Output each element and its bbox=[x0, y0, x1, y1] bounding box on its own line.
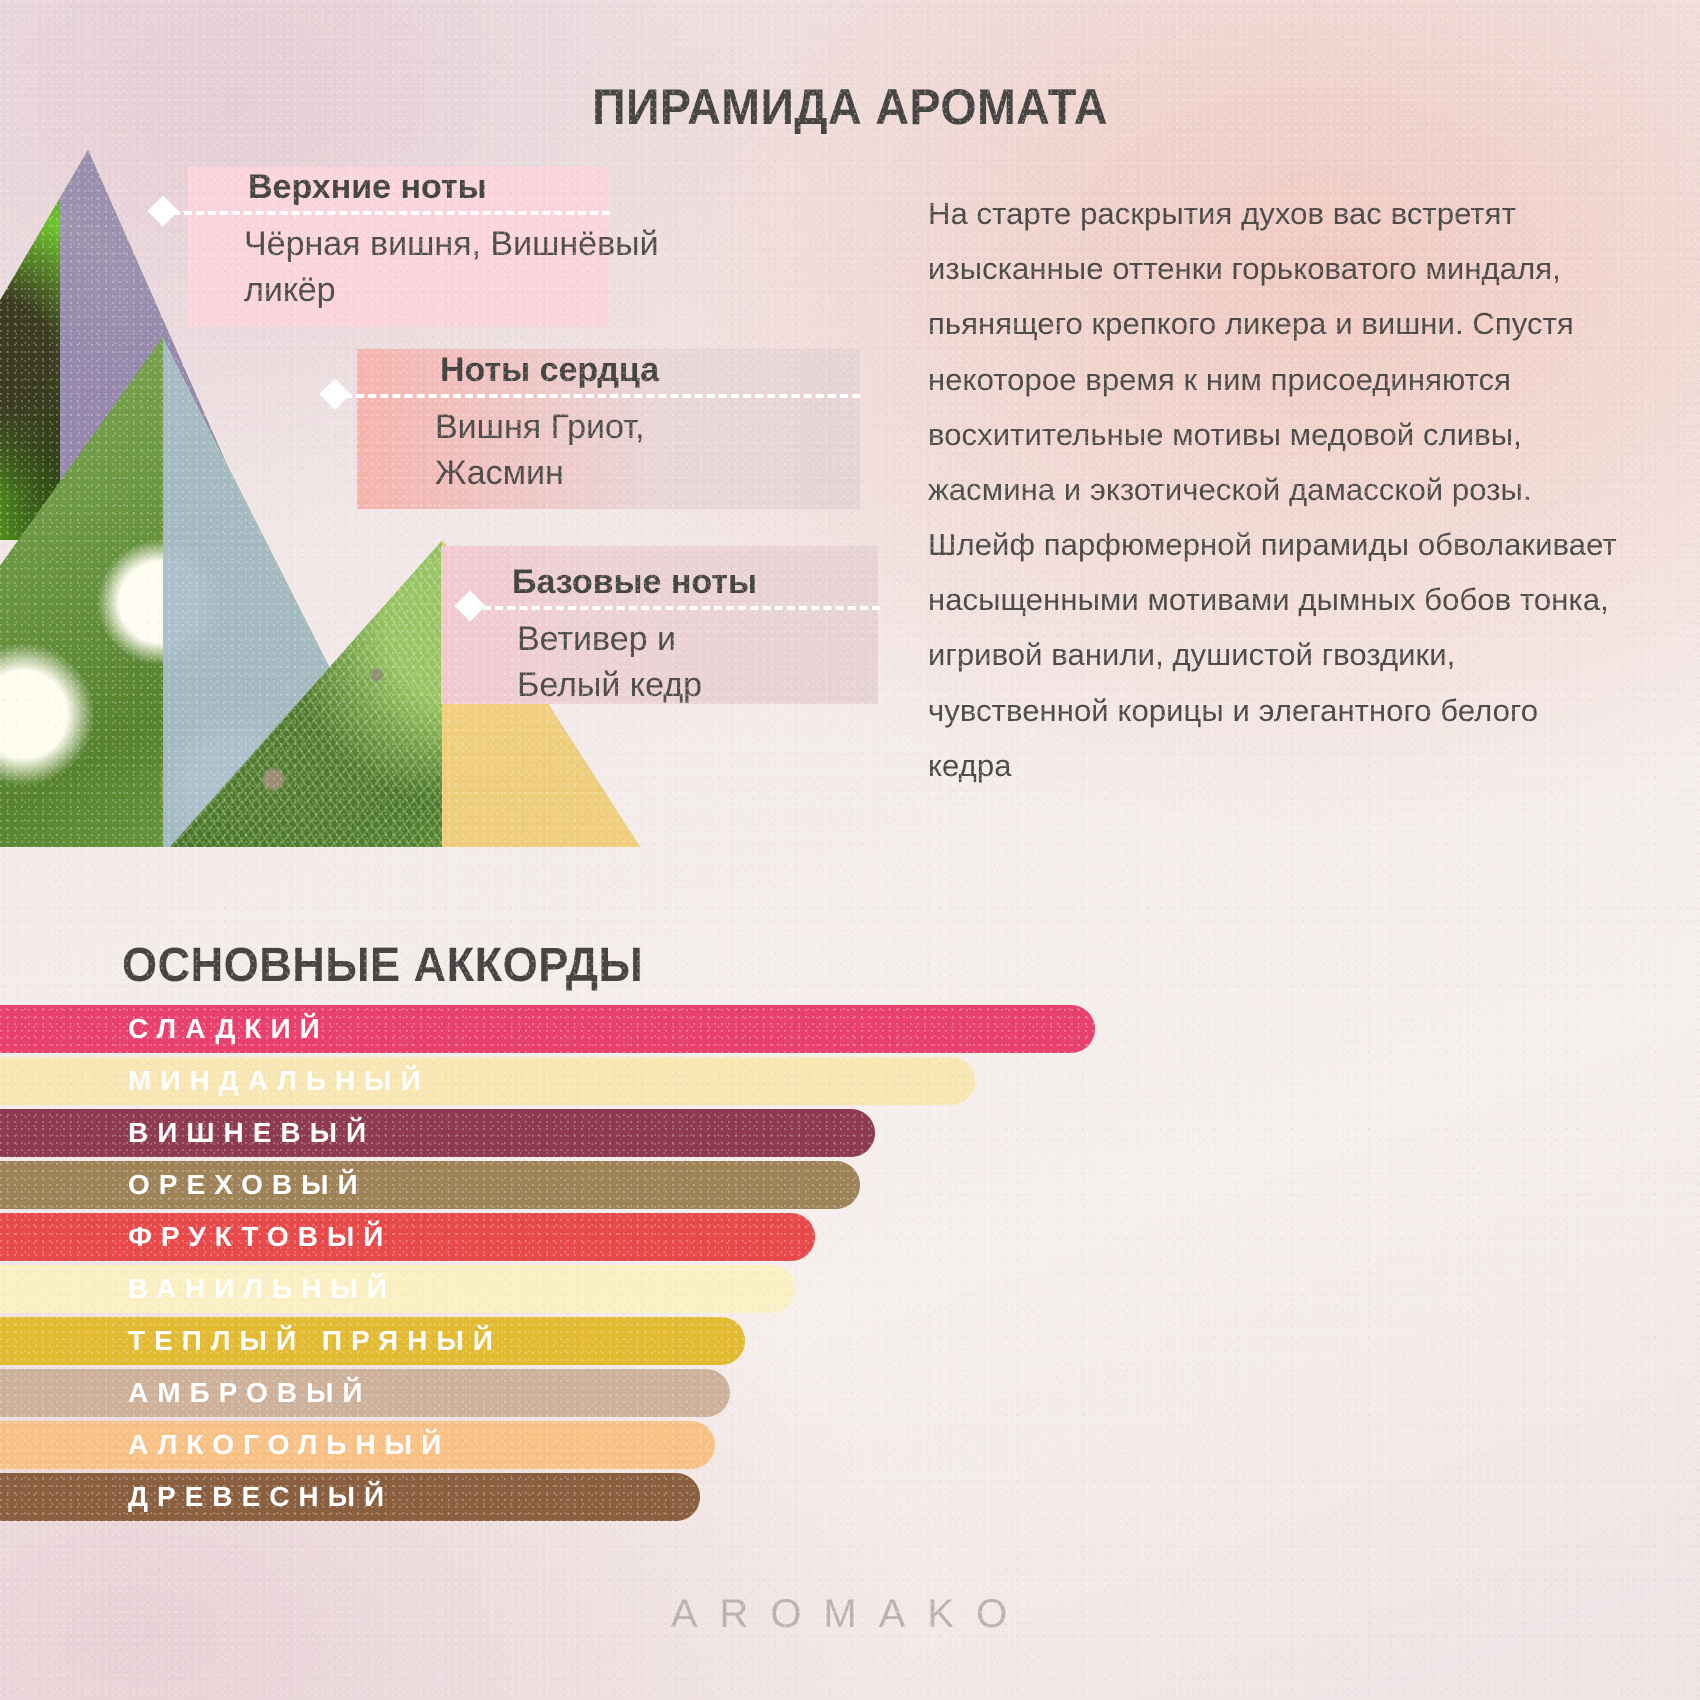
fragrance-pyramid: Верхние ноты Чёрная вишня, Вишнёвый ликё… bbox=[0, 150, 900, 850]
accord-bar: ОРЕХОВЫЙ bbox=[0, 1161, 860, 1209]
accord-label: АЛКОГОЛЬНЫЙ bbox=[128, 1429, 450, 1461]
accord-bar: АМБРОВЫЙ bbox=[0, 1369, 730, 1417]
accord-label: ОРЕХОВЫЙ bbox=[128, 1169, 367, 1201]
accords-title: ОСНОВНЫЕ АККОРДЫ bbox=[122, 938, 643, 993]
accord-bar: АЛКОГОЛЬНЫЙ bbox=[0, 1421, 715, 1469]
accord-label: МИНДАЛЬНЫЙ bbox=[128, 1065, 430, 1097]
accord-bar: ВАНИЛЬНЫЙ bbox=[0, 1265, 795, 1313]
accord-label: АМБРОВЫЙ bbox=[128, 1377, 372, 1409]
base-note-dashed-line bbox=[483, 606, 880, 610]
accord-bar: ВИШНЕВЫЙ bbox=[0, 1109, 875, 1157]
base-note-heading: Базовые ноты bbox=[512, 563, 757, 602]
top-note-body: Чёрная вишня, Вишнёвый ликёр bbox=[244, 222, 754, 314]
accord-bar: СЛАДКИЙ bbox=[0, 1005, 1095, 1053]
accord-bar: ФРУКТОВЫЙ bbox=[0, 1213, 815, 1261]
accord-label: ДРЕВЕСНЫЙ bbox=[128, 1481, 393, 1513]
page-title: ПИРАМИДА АРОМАТА bbox=[60, 78, 1641, 136]
brand-logo: AROMAKO bbox=[0, 1592, 1700, 1637]
accord-label: СЛАДКИЙ bbox=[128, 1013, 329, 1045]
top-note-diamond-marker bbox=[147, 195, 178, 226]
accords-bar-chart: СЛАДКИЙМИНДАЛЬНЫЙВИШНЕВЫЙОРЕХОВЫЙФРУКТОВ… bbox=[0, 1005, 1200, 1525]
heart-note-heading: Ноты сердца bbox=[440, 351, 659, 390]
heart-note-body: Вишня Гриот, Жасмин bbox=[435, 405, 695, 497]
accord-label: ФРУКТОВЫЙ bbox=[128, 1221, 392, 1253]
accord-label: ТЕПЛЫЙ ПРЯНЫЙ bbox=[128, 1325, 502, 1357]
infographic-canvas: ПИРАМИДА АРОМАТА Верхние ноты Чёрная виш… bbox=[0, 0, 1700, 1700]
heart-note-dashed-line bbox=[344, 394, 860, 398]
accord-label: ВИШНЕВЫЙ bbox=[128, 1117, 375, 1149]
base-note-body: Ветивер и Белый кедр bbox=[517, 617, 757, 709]
accord-label: ВАНИЛЬНЫЙ bbox=[128, 1273, 396, 1305]
fragrance-description: На старте раскрытия духов вас встретят и… bbox=[928, 186, 1628, 793]
accord-bar: МИНДАЛЬНЫЙ bbox=[0, 1057, 975, 1105]
accord-bar: ДРЕВЕСНЫЙ bbox=[0, 1473, 700, 1521]
heart-note-diamond-marker bbox=[319, 378, 350, 409]
accord-bar: ТЕПЛЫЙ ПРЯНЫЙ bbox=[0, 1317, 745, 1365]
top-note-heading: Верхние ноты bbox=[248, 168, 487, 207]
top-note-dashed-line bbox=[172, 211, 610, 215]
